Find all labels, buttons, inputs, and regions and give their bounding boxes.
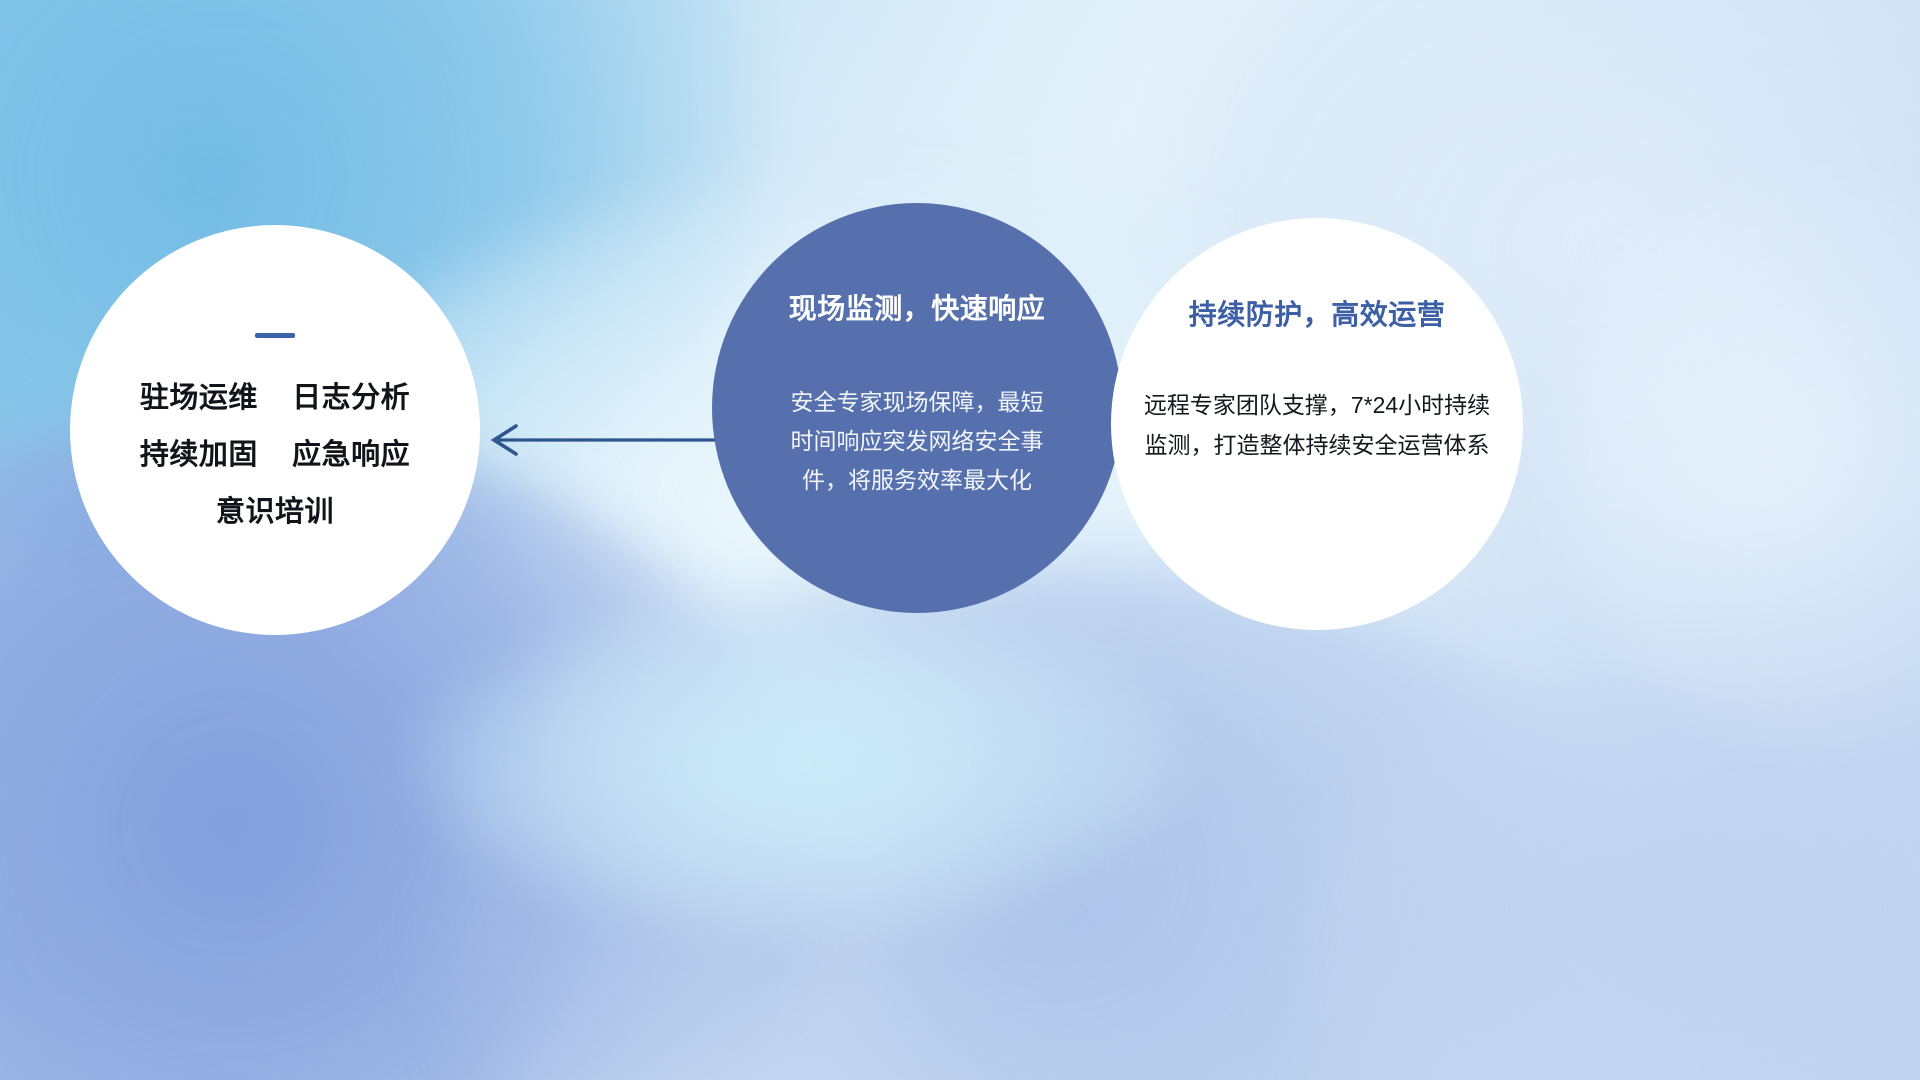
divider-dash [255,333,295,338]
continuous-protection-title: 持续防护，高效运营 [1189,293,1446,333]
continuous-protection-circle: 持续防护，高效运营 远程专家团队支撑，7*24小时持续监测，打造整体持续安全运营… [1111,218,1523,630]
background-glow-cyan [420,600,1180,930]
onsite-monitoring-circle: 现场监测，快速响应 安全专家现场保障，最短时间响应突发网络安全事件，将服务效率最… [712,203,1122,613]
onsite-monitoring-title: 现场监测，快速响应 [789,287,1046,327]
arrow-icon [480,415,720,465]
connector-arrow-left [480,415,720,470]
onsite-monitoring-body: 安全专家现场保障，最短时间响应突发网络安全事件，将服务效率最大化 [781,383,1053,500]
capability-line-1: 驻场运维 日志分析 [140,384,410,413]
capabilities-circle: 驻场运维 日志分析 持续加固 应急响应 意识培训 [70,225,480,635]
capability-line-3: 意识培训 [216,498,334,527]
continuous-protection-body: 远程专家团队支撑，7*24小时持续监测，打造整体持续安全运营体系 [1139,385,1495,465]
capability-line-2: 持续加固 应急响应 [140,441,410,470]
